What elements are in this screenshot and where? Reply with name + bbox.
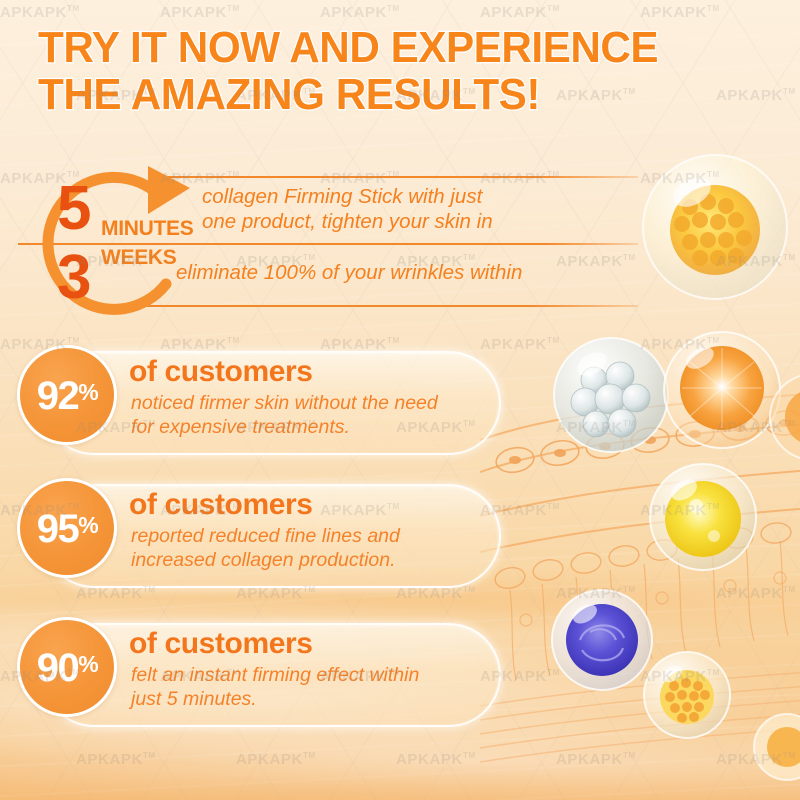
watermark-text: APKAPKTM (396, 751, 476, 768)
blue-swirl-sphere-icon (550, 588, 654, 692)
timeline-unit-minutes: MINUTES (101, 218, 193, 239)
headline: TRY IT NOW AND EXPERIENCE THE AMAZING RE… (38, 24, 758, 118)
watermark-text: APKAPKTM (716, 253, 796, 270)
watermark-text: APKAPKTM (640, 170, 720, 187)
watermark-text: APKAPKTM (716, 419, 796, 436)
badge-percent-symbol: % (78, 381, 97, 404)
badge-percent-symbol: % (78, 514, 97, 537)
promo-poster: TRY IT NOW AND EXPERIENCE THE AMAZING RE… (0, 0, 800, 800)
badge-percent-symbol: % (78, 653, 97, 676)
stat-badge-92: 92% (17, 345, 117, 445)
stat-body: reported reduced fine lines and increase… (131, 524, 400, 572)
watermark-text: APKAPKTM (556, 585, 636, 602)
badge-text: 92% (37, 376, 97, 416)
timeline-description-2: eliminate 100% of your wrinkles within (176, 260, 522, 285)
timeline-rule-bottom (142, 305, 638, 307)
honeycomb-sphere-corner-icon (752, 712, 800, 782)
badge-text: 95% (37, 509, 97, 549)
timeline-unit-weeks: WEEKS (101, 247, 177, 268)
badge-number: 90 (37, 648, 79, 688)
watermark-text: APKAPKTM (640, 668, 720, 685)
stat-badge-90: 90% (17, 617, 117, 717)
badge-number: 95 (37, 509, 79, 549)
watermark-text: APKAPKTM (640, 502, 720, 519)
headline-line-2: THE AMAZING RESULTS! (38, 71, 729, 118)
stat-title: of customers (129, 356, 313, 388)
watermark-text: APKAPKTM (76, 751, 156, 768)
watermark-text: APKAPKTM (716, 585, 796, 602)
watermark-text: APKAPKTM (716, 751, 796, 768)
watermark-text: APKAPKTM (640, 4, 720, 21)
watermark-text: APKAPKTM (556, 751, 636, 768)
bubble-cluster-sphere-icon (552, 336, 670, 454)
watermark-text: APKAPKTM (0, 4, 80, 21)
timeline-number-5: 5 (57, 178, 89, 240)
stat-body: noticed firmer skin without the need for… (131, 391, 438, 439)
watermark-text: APKAPKTM (160, 4, 240, 21)
watermark-text: APKAPKTM (640, 336, 720, 353)
radial-burst-sphere-icon (662, 330, 782, 450)
watermark-text: APKAPKTM (236, 751, 316, 768)
watermark-text: APKAPKTM (480, 4, 560, 21)
radial-burst-sphere-partial-icon (768, 372, 800, 462)
timeline-description-1: collagen Firming Stick with just one pro… (202, 184, 493, 234)
timeline-section: 5 MINUTES collagen Firming Stick with ju… (0, 150, 640, 335)
stat-row-92: 92% of customers noticed firmer skin wit… (0, 345, 520, 457)
stat-badge-95: 95% (17, 478, 117, 578)
headline-line-1: TRY IT NOW AND EXPERIENCE (38, 24, 729, 71)
badge-text: 90% (37, 648, 97, 688)
timeline-number-3: 3 (57, 247, 89, 309)
badge-number: 92 (37, 376, 79, 416)
watermark-text: APKAPKTM (320, 4, 400, 21)
circular-arrow-icon (30, 158, 198, 326)
yellow-oil-sphere-icon (648, 462, 758, 572)
stat-row-95: 95% of customers reported reduced fine l… (0, 478, 520, 590)
stat-row-90: 90% of customers felt an instant firming… (0, 617, 520, 729)
timeline-rule-top (168, 176, 638, 178)
stat-title: of customers (129, 489, 313, 521)
honeycomb-sphere-small-icon (642, 650, 732, 740)
stat-title: of customers (129, 628, 313, 660)
stat-body: felt an instant firming effect within ju… (131, 663, 419, 711)
watermark-text: APKAPKTM (556, 419, 636, 436)
skin-cross-section-illustration (480, 320, 800, 790)
honeycomb-sphere-large-icon (640, 152, 790, 302)
